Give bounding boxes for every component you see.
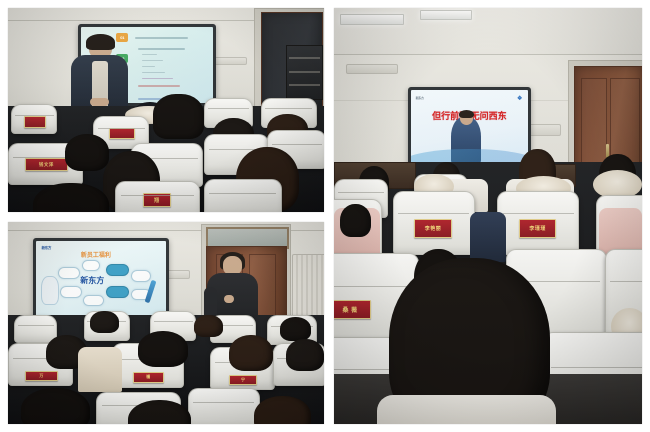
- foreground-attendee-shoulders: [377, 395, 556, 424]
- collage-panel-bottom-left[interactable]: 新东方 新员工福利 新东方: [8, 222, 324, 424]
- attendee-head: [280, 317, 312, 341]
- agenda-heading-1: [135, 37, 188, 39]
- seat-nametag: 李艳丽: [414, 219, 451, 237]
- benefit-bubble: [58, 267, 79, 279]
- ceiling-light: [340, 14, 404, 25]
- slide-corner-logo: 新东方: [41, 246, 51, 251]
- slide-corner-logo-right: ❖: [517, 95, 522, 102]
- seat-nametag: [24, 116, 46, 128]
- seat-nametag: 万: [25, 371, 57, 381]
- seat-nametag: 翔: [143, 193, 171, 207]
- chair: 李艳丽: [393, 191, 475, 255]
- screen-content: 新东方 ❖ 但行前路 无问西东: [411, 90, 528, 169]
- collage-panel-top-left[interactable]: 01 02 03 04: [8, 8, 324, 212]
- chair: [188, 388, 260, 424]
- slide-corner-logo-left: 新东方: [416, 96, 424, 100]
- ceiling-light: [420, 10, 471, 19]
- benefit-bubble: [60, 286, 83, 298]
- bookshelf: [286, 45, 323, 100]
- attendee-head: [194, 315, 222, 337]
- book-row: [289, 71, 320, 73]
- slide-title: 新员工福利: [81, 250, 111, 259]
- presenter-hair: [86, 34, 114, 50]
- presenter-hand: [224, 295, 233, 303]
- mascot-illustration: [41, 276, 59, 304]
- display-screen[interactable]: 新东方 新员工福利 新东方: [33, 238, 169, 321]
- attendee-head: [65, 134, 109, 171]
- presenter-head: [223, 256, 242, 274]
- benefits-slide: 新东方 新员工福利 新东方: [36, 241, 166, 318]
- agenda-sub: [142, 78, 174, 80]
- attendee-head: [21, 388, 91, 424]
- attendee-head: [340, 204, 371, 237]
- slide-center-logo: 新东方: [80, 275, 104, 286]
- book-row: [289, 84, 320, 86]
- photo-collage: 01 02 03 04: [0, 0, 650, 432]
- presenter-hands: [90, 98, 109, 106]
- ac-duct: [346, 64, 397, 74]
- seat-nametag: 福: [133, 372, 164, 382]
- agenda-heading-3: [138, 85, 180, 87]
- seat-nametag: 桑 薇: [334, 300, 371, 318]
- attendee-head: [229, 335, 273, 371]
- chair: [204, 179, 282, 212]
- attendee-head: [153, 94, 204, 139]
- attendee-head: [90, 311, 118, 333]
- benefit-bubble: [106, 286, 129, 298]
- seat-nametag: 钱文泽: [25, 158, 68, 171]
- attendee-head: [138, 331, 189, 367]
- screen-content: 新东方 新员工福利 新东方: [36, 241, 166, 318]
- title-slide: 新东方 ❖ 但行前路 无问西东: [411, 90, 528, 169]
- agenda-chip-01: 01: [116, 33, 128, 42]
- benefit-bubble: [83, 295, 104, 306]
- agenda-sub: [142, 66, 155, 68]
- seat-nametag: 宁: [229, 375, 258, 385]
- chair: [11, 104, 57, 135]
- benefit-bubble: [131, 270, 151, 281]
- agenda-sub: [142, 54, 158, 56]
- wall-seam: [334, 54, 642, 55]
- attendee-head: [286, 339, 324, 371]
- attendee-coat: [470, 212, 507, 262]
- attendee-coat: [78, 347, 122, 391]
- chair: 翔: [115, 181, 199, 212]
- slide-portrait-hair: [459, 110, 474, 119]
- display-screen[interactable]: 新东方 ❖ 但行前路 无问西东: [408, 87, 531, 172]
- lecture-hall-scene: 新东方 ❖ 但行前路 无问西东: [334, 8, 642, 424]
- benefit-bubble: [106, 264, 129, 276]
- classroom-scene-top-left: 01 02 03 04: [8, 8, 324, 212]
- seat-nametag: 李瑾瑾: [519, 219, 556, 237]
- agenda-sub: [142, 60, 163, 62]
- chair: 李瑾瑾: [497, 191, 579, 255]
- book-row: [289, 57, 320, 59]
- agenda-sub: [142, 72, 166, 74]
- collage-panel-right[interactable]: 新东方 ❖ 但行前路 无问西东: [334, 8, 642, 424]
- classroom-scene-bottom-left: 新东方 新员工福利 新东方: [8, 222, 324, 424]
- benefit-bubble: [82, 260, 101, 271]
- agenda-heading-2: [138, 48, 186, 50]
- seat-nametag: [109, 128, 135, 139]
